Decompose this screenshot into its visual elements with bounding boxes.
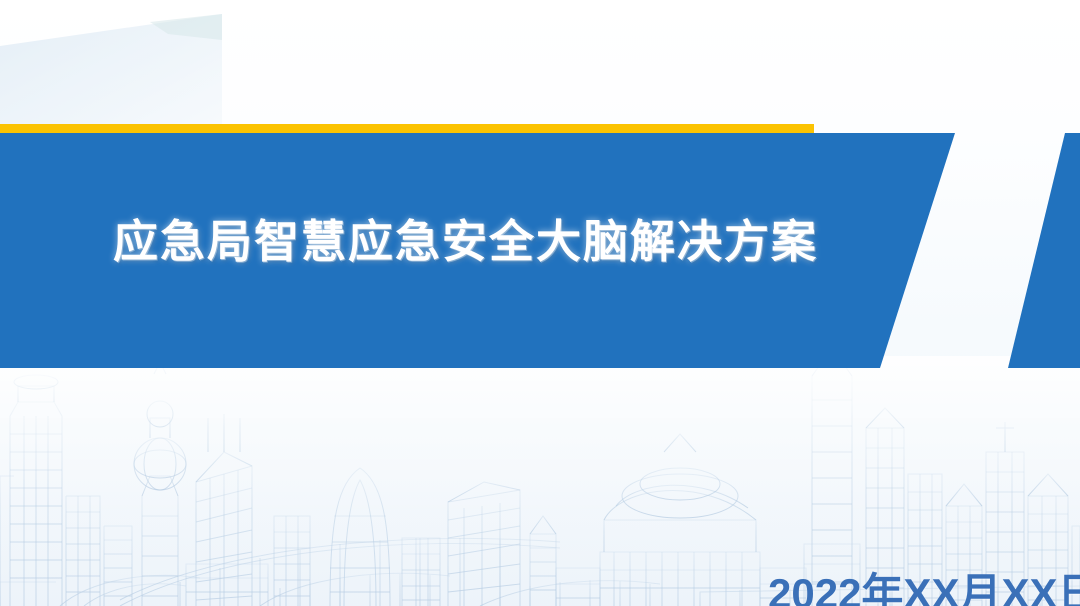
top-left-polygon-decoration xyxy=(0,0,235,134)
presentation-title-slide: 应急局智慧应急安全大脑解决方案 2022年XX月XX日 xyxy=(0,0,1080,606)
banner-blue-accent-stripe xyxy=(1000,133,1080,368)
slide-date: 2022年XX月XX日 xyxy=(768,560,1080,606)
page-title: 应急局智慧应急安全大脑解决方案 xyxy=(113,216,818,268)
banner-yellow-rule xyxy=(0,124,814,133)
